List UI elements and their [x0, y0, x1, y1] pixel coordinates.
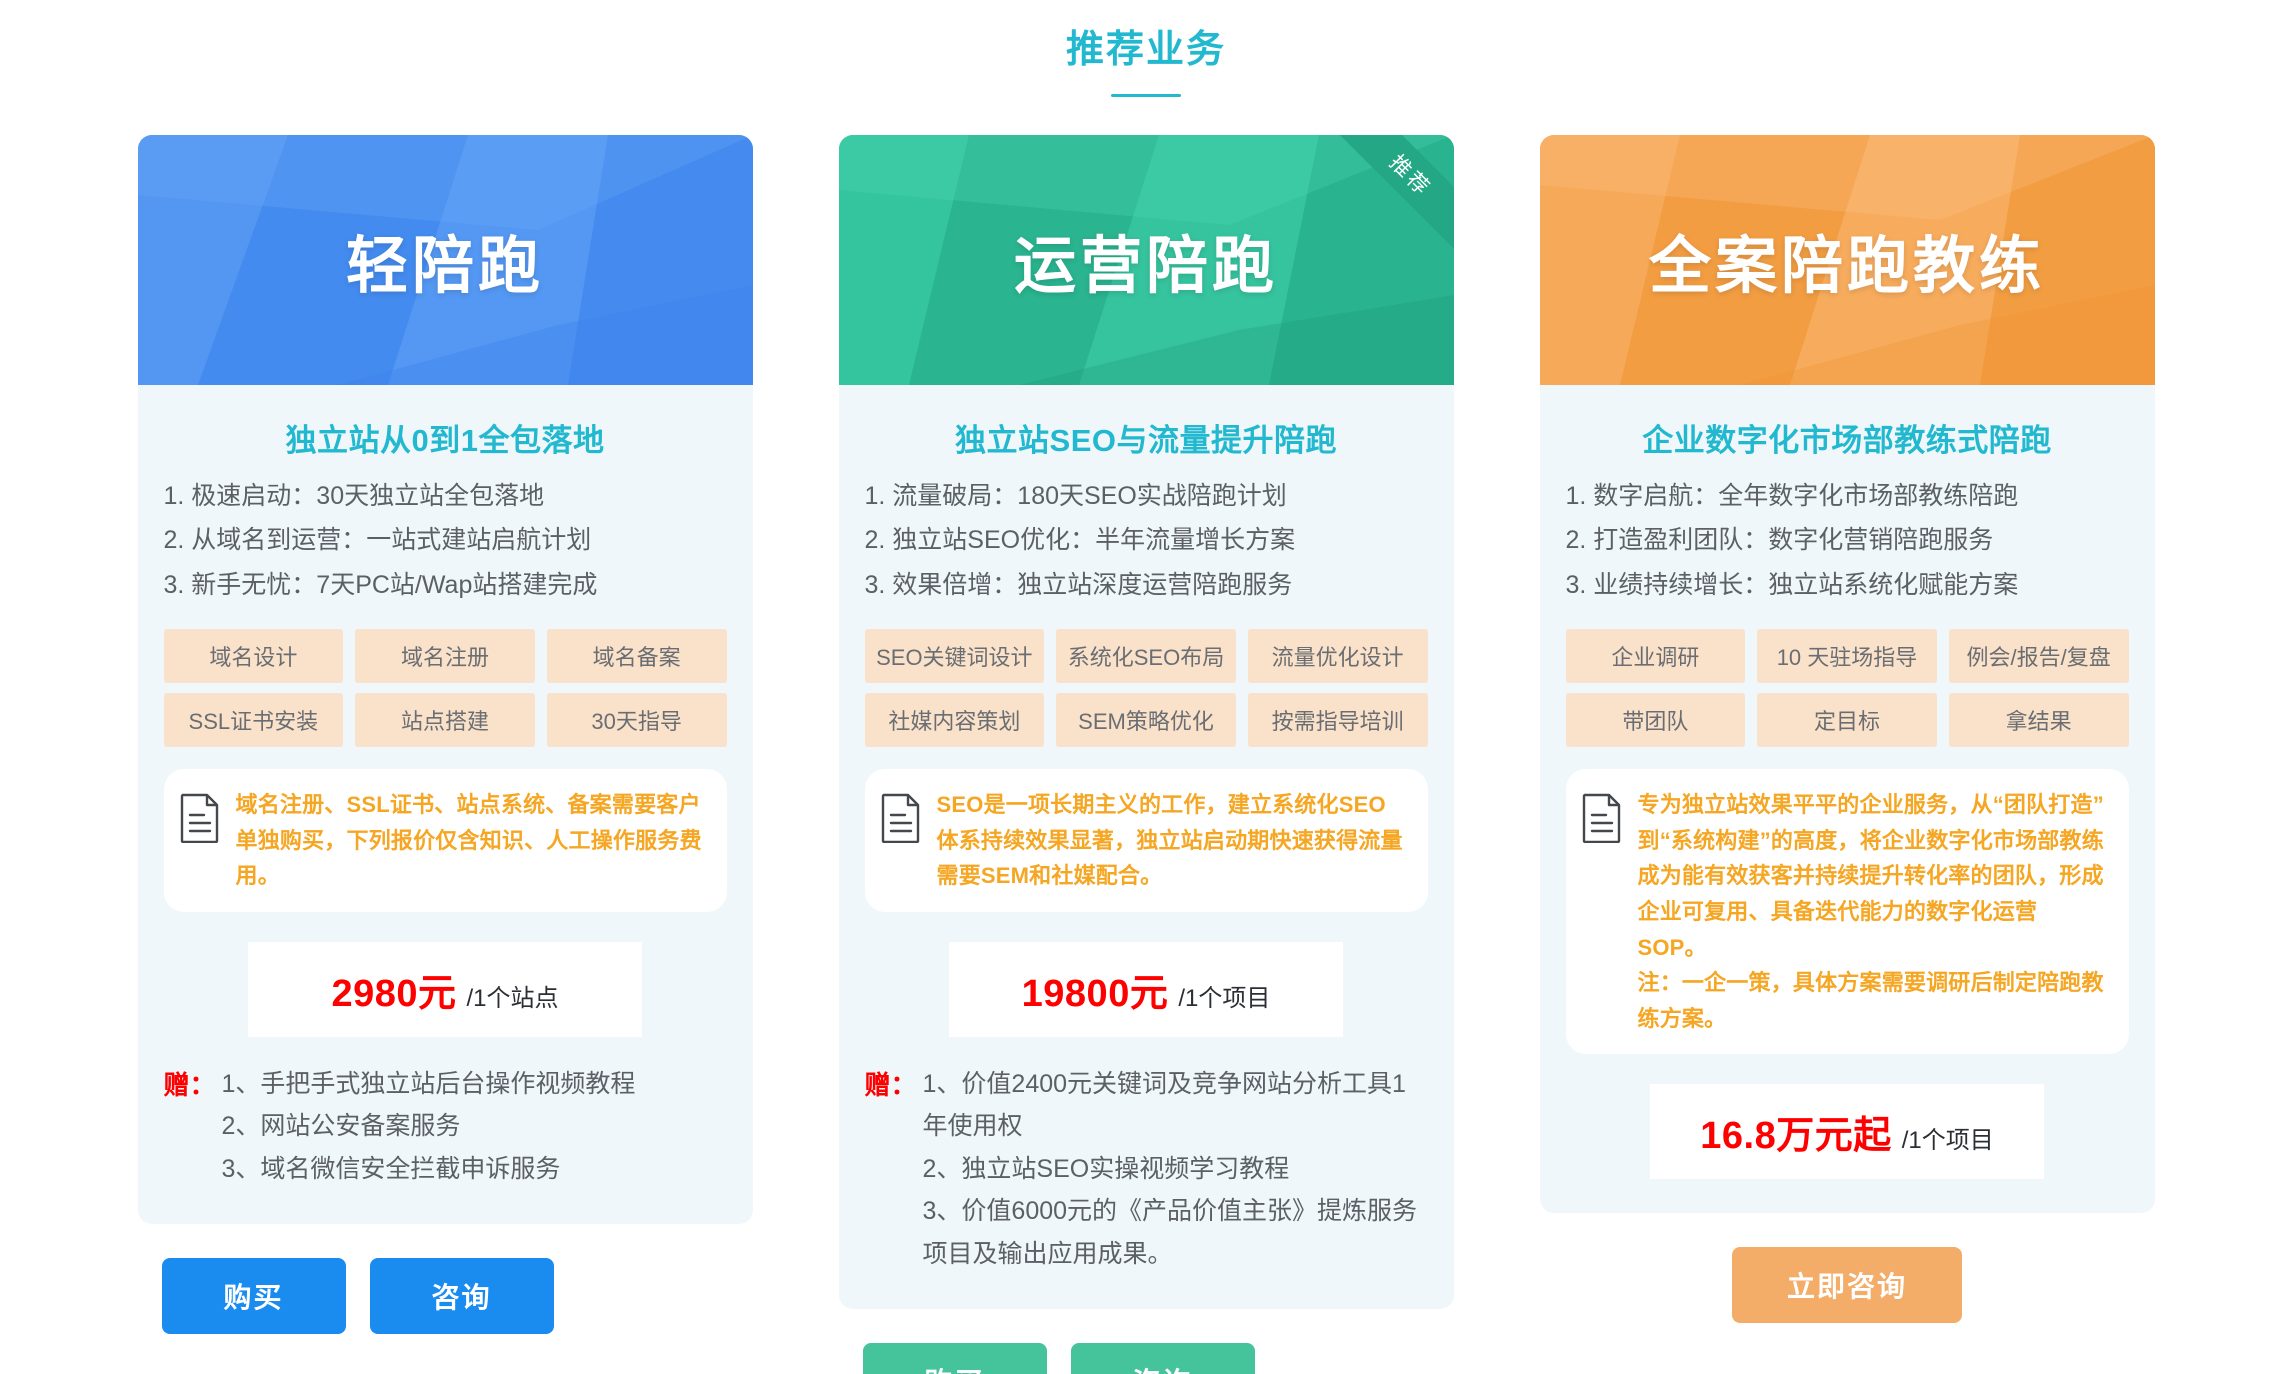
feature-tag: 系统化SEO布局	[1056, 629, 1236, 683]
feature-tag: 10 天驻场指导	[1757, 629, 1937, 683]
gift-label: 赠：	[164, 1063, 216, 1191]
feature-tag: 流量优化设计	[1248, 629, 1428, 683]
page-title: 推荐业务	[0, 28, 2292, 74]
buy-button[interactable]: 购买	[863, 1343, 1047, 1374]
card-body: 独立站从0到1全包落地 1. 极速启动：30天独立站全包落地 2. 从域名到运营…	[138, 385, 753, 1225]
card-header-label: 轻陪跑	[346, 215, 544, 305]
feature-list: 1. 极速启动：30天独立站全包落地 2. 从域名到运营：一站式建站启航计划 3…	[164, 474, 727, 608]
gift-item: 2、网站公安备案服务	[222, 1105, 636, 1148]
feature-item: 2. 独立站SEO优化：半年流量增长方案	[865, 518, 1428, 563]
feature-tag: SSL证书安装	[164, 693, 344, 747]
feature-tag: 域名注册	[355, 629, 535, 683]
price-unit: /1个站点	[467, 978, 559, 1013]
card-header-banner: 轻陪跑	[138, 135, 753, 385]
gift-list: 1、手把手式独立站后台操作视频教程 2、网站公安备案服务 3、域名微信安全拦截申…	[222, 1063, 636, 1191]
gift-section: 赠： 1、手把手式独立站后台操作视频教程 2、网站公安备案服务 3、域名微信安全…	[164, 1063, 727, 1191]
card-header-label: 全案陪跑教练	[1649, 215, 2045, 305]
tag-grid: SEO关键词设计 系统化SEO布局 流量优化设计 社媒内容策划 SEM策略优化 …	[865, 629, 1428, 747]
pricing-card[interactable]: 轻陪跑 独立站从0到1全包落地 1. 极速启动：30天独立站全包落地 2. 从域…	[138, 135, 753, 1225]
document-icon	[1582, 787, 1624, 848]
pricing-card-column: 轻陪跑 独立站从0到1全包落地 1. 极速启动：30天独立站全包落地 2. 从域…	[138, 135, 753, 1335]
card-body: 独立站SEO与流量提升陪跑 1. 流量破局：180天SEO实战陪跑计划 2. 独…	[839, 385, 1454, 1310]
feature-item: 3. 新手无忧：7天PC站/Wap站搭建完成	[164, 563, 727, 608]
card-header-banner: 全案陪跑教练	[1540, 135, 2155, 385]
document-icon	[180, 787, 222, 848]
price-amount: 2980元	[331, 962, 456, 1017]
price-box: 19800元 /1个项目	[949, 942, 1343, 1037]
feature-item: 3. 效果倍增：独立站深度运营陪跑服务	[865, 563, 1428, 608]
pricing-card-row: 轻陪跑 独立站从0到1全包落地 1. 极速启动：30天独立站全包落地 2. 从域…	[0, 135, 2292, 1374]
card-action-row: 购买 咨询	[839, 1343, 1454, 1374]
feature-tag: 企业调研	[1566, 629, 1746, 683]
gift-section: 赠： 1、价值2400元关键词及竞争网站分析工具1年使用权 2、独立站SEO实操…	[865, 1063, 1428, 1276]
document-icon	[881, 787, 923, 848]
gift-item: 2、独立站SEO实操视频学习教程	[923, 1148, 1428, 1191]
note-text: 域名注册、SSL证书、站点系统、备案需要客户单独购买，下列报价仅含知识、人工操作…	[236, 787, 705, 894]
feature-item: 2. 从域名到运营：一站式建站启航计划	[164, 518, 727, 563]
pricing-card-column: 推荐 运营陪跑 独立站SEO与流量提升陪跑 1. 流量破局：180天SEO实战陪…	[839, 135, 1454, 1374]
pricing-card[interactable]: 全案陪跑教练 企业数字化市场部教练式陪跑 1. 数字启航：全年数字化市场部教练陪…	[1540, 135, 2155, 1214]
card-header-label: 运营陪跑	[1014, 215, 1278, 305]
feature-item: 1. 流量破局：180天SEO实战陪跑计划	[865, 474, 1428, 519]
price-box: 16.8万元起 /1个项目	[1650, 1084, 2044, 1179]
gift-label: 赠：	[865, 1063, 917, 1276]
feature-tag: 拿结果	[1949, 693, 2129, 747]
card-action-row: 立即咨询	[1540, 1247, 2155, 1323]
pricing-page: 推荐业务 轻陪跑 独立站从0到1全包落地	[0, 0, 2292, 1374]
buy-button[interactable]: 购买	[162, 1258, 346, 1334]
note-box: SEO是一项长期主义的工作，建立系统化SEO体系持续效果显著，独立站启动期快速获…	[865, 769, 1428, 912]
feature-list: 1. 数字启航：全年数字化市场部教练陪跑 2. 打造盈利团队：数字化营销陪跑服务…	[1566, 474, 2129, 608]
feature-item: 1. 数字启航：全年数字化市场部教练陪跑	[1566, 474, 2129, 519]
feature-tag: 例会/报告/复盘	[1949, 629, 2129, 683]
card-body: 企业数字化市场部教练式陪跑 1. 数字启航：全年数字化市场部教练陪跑 2. 打造…	[1540, 385, 2155, 1214]
consult-button[interactable]: 咨询	[370, 1258, 554, 1334]
feature-tag: SEM策略优化	[1056, 693, 1236, 747]
note-box: 域名注册、SSL证书、站点系统、备案需要客户单独购买，下列报价仅含知识、人工操作…	[164, 769, 727, 912]
card-action-row: 购买 咨询	[138, 1258, 753, 1334]
feature-tag: 定目标	[1757, 693, 1937, 747]
feature-tag: SEO关键词设计	[865, 629, 1045, 683]
feature-tag: 30天指导	[547, 693, 727, 747]
price-box: 2980元 /1个站点	[248, 942, 642, 1037]
card-title: 独立站从0到1全包落地	[164, 415, 727, 460]
pricing-card-column: 全案陪跑教练 企业数字化市场部教练式陪跑 1. 数字启航：全年数字化市场部教练陪…	[1540, 135, 2155, 1324]
feature-tag: 社媒内容策划	[865, 693, 1045, 747]
gift-item: 1、价值2400元关键词及竞争网站分析工具1年使用权	[923, 1063, 1428, 1148]
feature-list: 1. 流量破局：180天SEO实战陪跑计划 2. 独立站SEO优化：半年流量增长…	[865, 474, 1428, 608]
price-amount: 16.8万元起	[1700, 1104, 1891, 1159]
feature-tag: 按需指导培训	[1248, 693, 1428, 747]
section-header: 推荐业务	[0, 0, 2292, 97]
price-amount: 19800元	[1022, 962, 1169, 1017]
gift-list: 1、价值2400元关键词及竞争网站分析工具1年使用权 2、独立站SEO实操视频学…	[923, 1063, 1428, 1276]
pricing-card[interactable]: 推荐 运营陪跑 独立站SEO与流量提升陪跑 1. 流量破局：180天SEO实战陪…	[839, 135, 1454, 1310]
feature-tag: 域名设计	[164, 629, 344, 683]
card-header-banner: 推荐 运营陪跑	[839, 135, 1454, 385]
feature-item: 2. 打造盈利团队：数字化营销陪跑服务	[1566, 518, 2129, 563]
card-title: 企业数字化市场部教练式陪跑	[1566, 415, 2129, 460]
feature-tag: 站点搭建	[355, 693, 535, 747]
note-box: 专为独立站效果平平的企业服务，从“团队打造”到“系统构建”的高度，将企业数字化市…	[1566, 769, 2129, 1054]
feature-item: 1. 极速启动：30天独立站全包落地	[164, 474, 727, 519]
gift-item: 1、手把手式独立站后台操作视频教程	[222, 1063, 636, 1106]
price-unit: /1个项目	[1178, 978, 1270, 1013]
card-title: 独立站SEO与流量提升陪跑	[865, 415, 1428, 460]
note-text: 专为独立站效果平平的企业服务，从“团队打造”到“系统构建”的高度，将企业数字化市…	[1638, 787, 2107, 1036]
price-unit: /1个项目	[1902, 1120, 1994, 1155]
feature-tag: 域名备案	[547, 629, 727, 683]
title-underline	[1111, 94, 1181, 97]
feature-item: 3. 业绩持续增长：独立站系统化赋能方案	[1566, 563, 2129, 608]
gift-item: 3、价值6000元的《产品价值主张》提炼服务项目及输出应用成果。	[923, 1190, 1428, 1275]
note-text: SEO是一项长期主义的工作，建立系统化SEO体系持续效果显著，独立站启动期快速获…	[937, 787, 1406, 894]
tag-grid: 域名设计 域名注册 域名备案 SSL证书安装 站点搭建 30天指导	[164, 629, 727, 747]
gift-item: 3、域名微信安全拦截申诉服务	[222, 1148, 636, 1191]
consult-now-button[interactable]: 立即咨询	[1732, 1247, 1962, 1323]
consult-button[interactable]: 咨询	[1071, 1343, 1255, 1374]
feature-tag: 带团队	[1566, 693, 1746, 747]
tag-grid: 企业调研 10 天驻场指导 例会/报告/复盘 带团队 定目标 拿结果	[1566, 629, 2129, 747]
